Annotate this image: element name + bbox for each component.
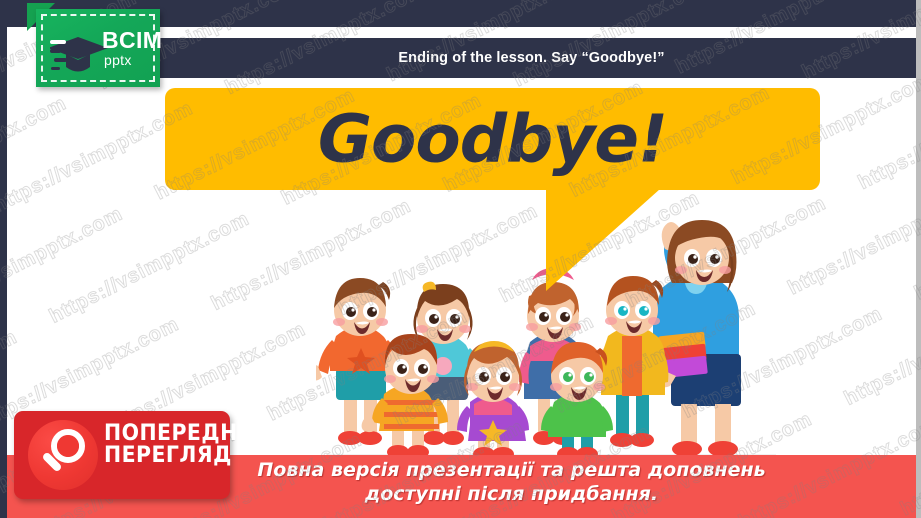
right-edge-strip xyxy=(916,0,921,518)
magnifier-circle xyxy=(28,420,98,490)
teacher-figure xyxy=(653,220,741,457)
vsim-pptx-logo[interactable]: BCIM pptx xyxy=(27,3,160,87)
logo-subtitle: pptx xyxy=(104,52,132,68)
slide-preview-window: Goodbye! xyxy=(0,0,921,518)
preview-badge[interactable]: ПОПЕРЕДНІЙ ПЕРЕГЛЯД xyxy=(14,411,230,499)
speech-bubble-tail xyxy=(546,189,660,291)
logo-title: BCIM xyxy=(102,27,162,54)
logo-card: BCIM pptx xyxy=(36,9,160,87)
speech-bubble: Goodbye! xyxy=(165,88,820,190)
preview-badge-line-1: ПОПЕРЕДНІЙ xyxy=(104,423,216,445)
banner-line-2: доступні після придбання. xyxy=(117,483,906,505)
left-edge-strip xyxy=(0,0,7,518)
banner-line-1: Повна версія презентації та решта доповн… xyxy=(117,459,906,481)
preview-badge-text: ПОПЕРЕДНІЙ ПЕРЕГЛЯД xyxy=(104,423,224,468)
lesson-title: Ending of the lesson. Say “Goodbye!” xyxy=(398,50,664,66)
preview-badge-line-2: ПЕРЕГЛЯД xyxy=(104,445,216,467)
lesson-title-bar: Ending of the lesson. Say “Goodbye!” xyxy=(147,38,916,78)
magnifier-icon xyxy=(28,420,98,490)
goodbye-text: Goodbye! xyxy=(165,101,820,178)
